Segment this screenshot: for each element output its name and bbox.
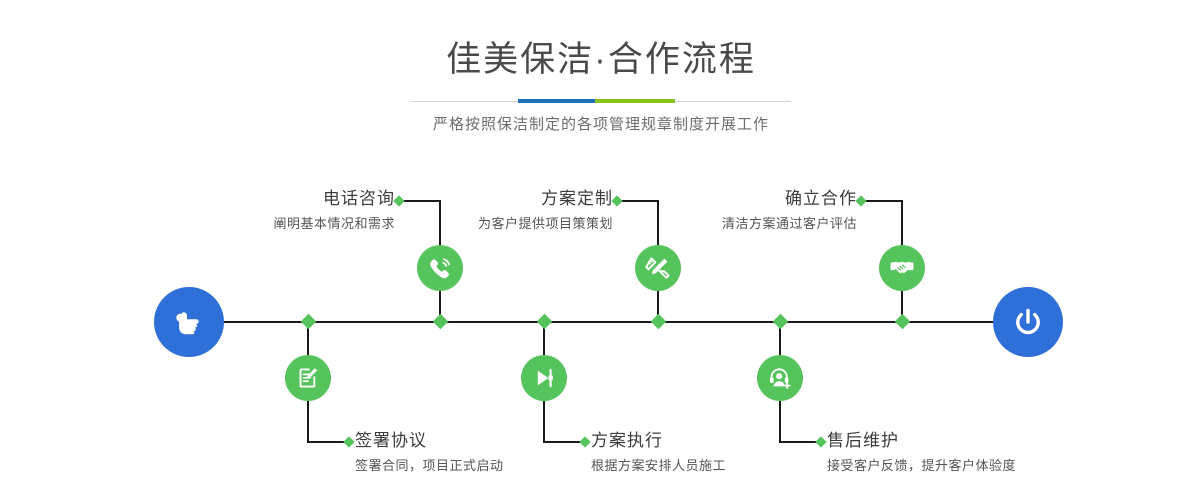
timeline-start-node <box>154 287 224 357</box>
step-label-6: 售后维护 接受客户反馈，提升客户体验度 <box>827 430 1087 476</box>
flowchart-page: 佳美保洁·合作流程 严格按照保洁制定的各项管理规章制度开展工作 <box>0 0 1202 502</box>
step-label-1: 电话咨询 阐明基本情况和需求 <box>180 188 395 234</box>
step-icon-3 <box>635 245 681 291</box>
step-desc-4: 根据方案安排人员施工 <box>591 452 831 476</box>
connector-arm-step-5 <box>861 200 903 202</box>
pointing-hand-icon <box>170 303 208 341</box>
step-desc-3: 为客户提供项目策策划 <box>400 210 613 234</box>
step-label-2: 签署协议 签署合同，项目正式启动 <box>355 430 595 476</box>
axis-marker-step-1 <box>433 314 449 330</box>
step-label-3: 方案定制 为客户提供项目策策划 <box>400 188 613 234</box>
label-marker-step-3 <box>611 195 622 206</box>
step-icon-1 <box>417 245 463 291</box>
step-title-6: 售后维护 <box>827 430 1087 452</box>
step-label-5: 确立合作 清洁方案通过客户评估 <box>650 188 857 234</box>
step-label-4: 方案执行 根据方案安排人员施工 <box>591 430 831 476</box>
step-icon-5 <box>879 245 925 291</box>
phone-call-icon <box>427 255 453 281</box>
step-icon-6 <box>757 355 803 401</box>
axis-marker-step-2 <box>301 314 317 330</box>
play-execute-icon <box>531 365 557 391</box>
handshake-icon <box>889 255 915 281</box>
document-edit-icon <box>295 365 321 391</box>
axis-marker-step-5 <box>895 314 911 330</box>
label-marker-step-2 <box>343 436 354 447</box>
connector-arm-step-3 <box>617 200 659 202</box>
pencil-ruler-icon <box>645 255 671 281</box>
step-title-5: 确立合作 <box>650 188 857 210</box>
timeline-end-node <box>993 287 1063 357</box>
process-timeline: 电话咨询 阐明基本情况和需求 签署协议 签署合同，项目正式启动 <box>0 0 1202 502</box>
axis-marker-step-4 <box>537 314 553 330</box>
connector-arm-step-1 <box>399 200 441 202</box>
step-icon-2 <box>285 355 331 401</box>
step-title-1: 电话咨询 <box>180 188 395 210</box>
axis-marker-step-3 <box>651 314 667 330</box>
label-marker-step-5 <box>855 195 866 206</box>
headset-support-icon <box>767 365 793 391</box>
step-desc-1: 阐明基本情况和需求 <box>180 210 395 234</box>
step-desc-6: 接受客户反馈，提升客户体验度 <box>827 452 1087 476</box>
axis-marker-step-6 <box>773 314 789 330</box>
step-title-3: 方案定制 <box>400 188 613 210</box>
power-icon <box>1009 303 1047 341</box>
step-desc-2: 签署合同，项目正式启动 <box>355 452 595 476</box>
step-icon-4 <box>521 355 567 401</box>
step-desc-5: 清洁方案通过客户评估 <box>650 210 857 234</box>
